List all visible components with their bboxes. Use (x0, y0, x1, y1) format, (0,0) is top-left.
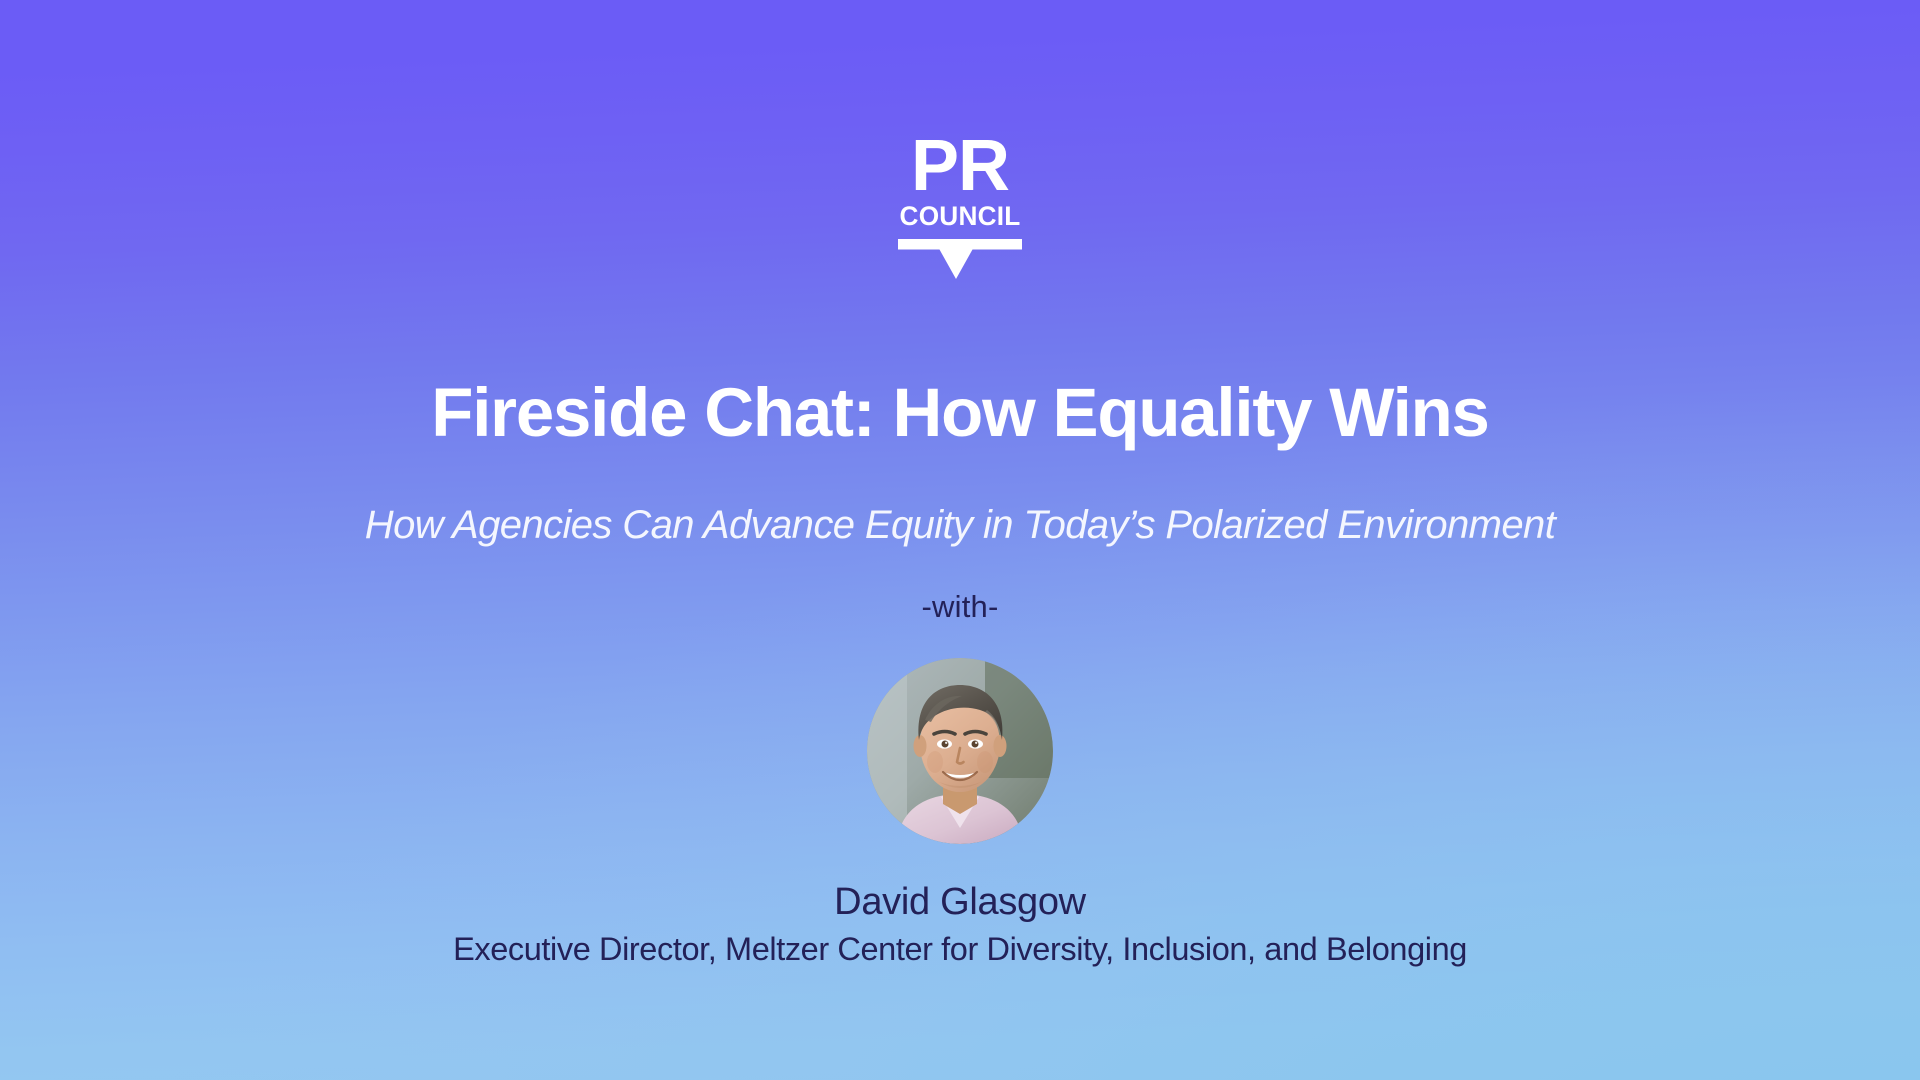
avatar (867, 658, 1053, 844)
pr-council-logo: PR COUNCIL (894, 138, 1026, 279)
page-title: Fireside Chat: How Equality Wins (0, 376, 1920, 449)
slide-content: PR COUNCIL Fireside Chat: How Equality W… (0, 0, 1920, 1080)
speech-bubble-tail-icon (898, 239, 1022, 279)
speaker-name: David Glasgow (0, 881, 1920, 925)
with-label: -with- (0, 590, 1920, 624)
logo-secondary-text: COUNCIL (895, 203, 1026, 230)
page-subtitle: How Agencies Can Advance Equity in Today… (0, 503, 1920, 547)
title-slide: PR COUNCIL Fireside Chat: How Equality W… (0, 0, 1920, 1080)
speaker-title: Executive Director, Meltzer Center for D… (0, 931, 1920, 968)
logo-primary-text: PR (894, 138, 1026, 194)
